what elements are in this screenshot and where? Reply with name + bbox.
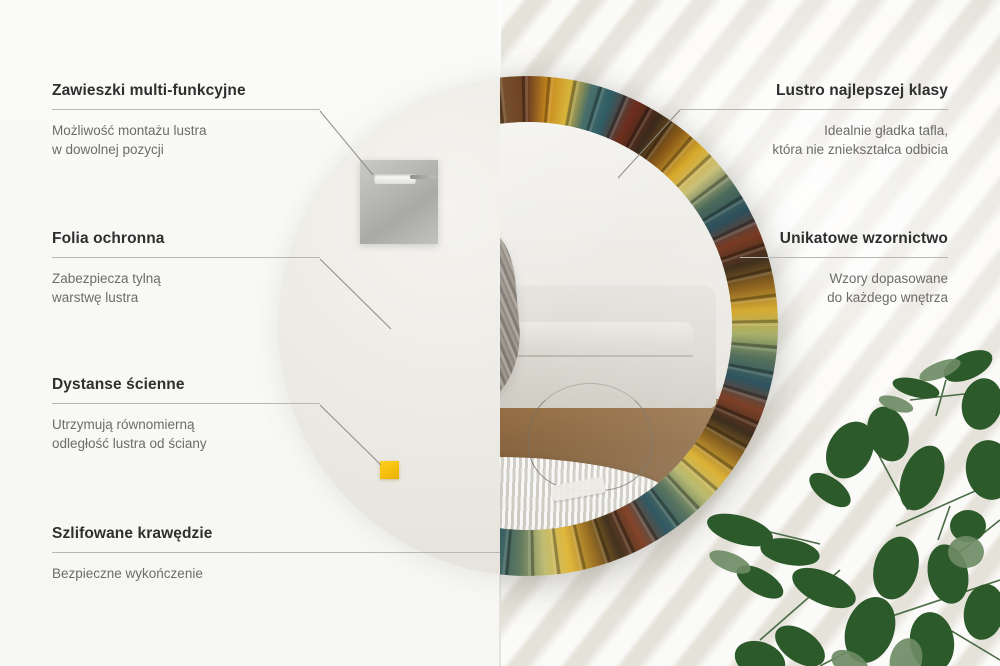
callout-protective-film: Folia ochronna Zabezpiecza tylną warstwę… <box>52 230 320 307</box>
callout-best-class-mirror-description: Idealnie gładka tafla, która nie znieksz… <box>680 121 948 159</box>
callout-unique-design-title: Unikatowe wzornictwo <box>680 230 948 248</box>
callout-polished-edges-rule <box>52 552 500 553</box>
hanger-plate <box>360 160 438 244</box>
callout-wall-spacers: Dystanse ścienne Utrzymują równomierną o… <box>52 376 320 453</box>
callout-protective-film-description: Zabezpiecza tylną warstwę lustra <box>52 269 320 307</box>
callout-protective-film-title: Folia ochronna <box>52 230 320 248</box>
callout-unique-design-rule <box>740 257 948 258</box>
callout-polished-edges-title: Szlifowane krawędzie <box>52 525 500 543</box>
reflected-sofa-back <box>500 322 693 346</box>
callout-best-class-mirror-rule <box>680 109 948 110</box>
callout-wall-spacers-description: Utrzymują równomierną odległość lustra o… <box>52 415 320 453</box>
callout-unique-design-description: Wzory dopasowane do każdego wnętrza <box>680 269 948 307</box>
callout-polished-edges-description: Bezpieczne wykończenie <box>52 564 500 583</box>
callout-wall-spacers-rule <box>52 403 320 404</box>
callout-hangers-title: Zawieszki multi-funkcyjne <box>52 82 320 100</box>
callout-wall-spacers-title: Dystanse ścienne <box>52 376 320 394</box>
callout-unique-design: Unikatowe wzornictwo Wzory dopasowane do… <box>740 230 948 307</box>
callout-hangers-description: Możliwość montażu lustra w dowolnej pozy… <box>52 121 320 159</box>
callout-best-class-mirror-title: Lustro najlepszej klasy <box>680 82 948 100</box>
callout-polished-edges: Szlifowane krawędzie Bezpieczne wykończe… <box>52 525 500 583</box>
foreground-plant <box>700 330 1000 666</box>
reflected-wire-chair <box>528 383 652 491</box>
hanger-keyhole-slot <box>374 174 416 184</box>
callout-protective-film-rule <box>52 257 320 258</box>
mirror-glass <box>500 122 732 530</box>
callout-hangers: Zawieszki multi-funkcyjne Możliwość mont… <box>52 82 320 159</box>
callout-hangers-rule <box>52 109 320 110</box>
callout-best-class-mirror: Lustro najlepszej klasy Idealnie gładka … <box>680 82 948 159</box>
infographic-canvas: Zawieszki multi-funkcyjne Możliwość mont… <box>0 0 1000 666</box>
reflected-sofa-seam <box>500 355 693 357</box>
plant-leaves-icon <box>700 330 1000 666</box>
wall-spacer-yellow <box>380 461 399 479</box>
